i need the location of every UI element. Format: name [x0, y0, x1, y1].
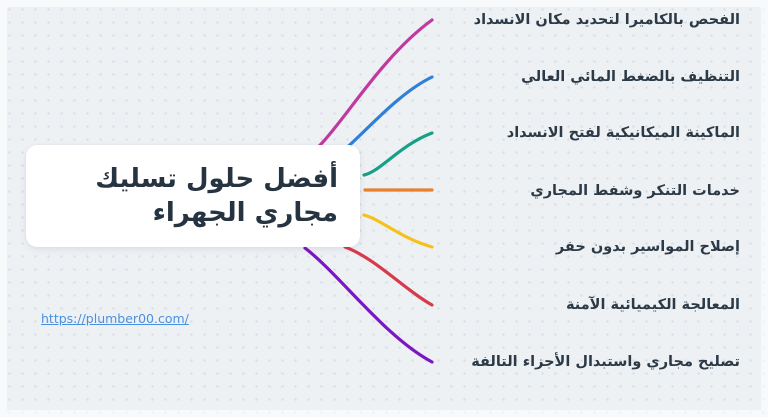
branch-label-4[interactable]: إصلاح المواسير بدون حفر — [556, 239, 740, 255]
branch-label-1[interactable]: التنظيف بالضغط المائي العالي — [521, 69, 740, 85]
mindmap-canvas: أفضل حلول تسليك مجاري الجهراء الفحص بالك… — [0, 0, 768, 417]
branch-label-2[interactable]: الماكينة الميكانيكية لفتح الانسداد — [507, 125, 740, 141]
branch-curve-5 — [345, 247, 432, 305]
branch-label-3[interactable]: خدمات التنكر وشفط المجاري — [530, 183, 740, 199]
site-url-link[interactable]: https://plumber00.com/ — [41, 311, 189, 326]
branch-label-5[interactable]: المعالجة الكيميائية الآمنة — [566, 297, 740, 313]
center-node-title: أفضل حلول تسليك مجاري الجهراء — [44, 162, 338, 231]
branch-curve-2 — [364, 133, 432, 175]
branch-label-6[interactable]: تصليح مجاري واستبدال الأجزاء التالفة — [471, 354, 740, 370]
center-node[interactable]: أفضل حلول تسليك مجاري الجهراء — [26, 145, 360, 247]
branch-label-0[interactable]: الفحص بالكاميرا لتحديد مكان الانسداد — [474, 12, 740, 28]
branch-curve-6 — [305, 248, 432, 362]
branch-curve-4 — [364, 215, 432, 247]
